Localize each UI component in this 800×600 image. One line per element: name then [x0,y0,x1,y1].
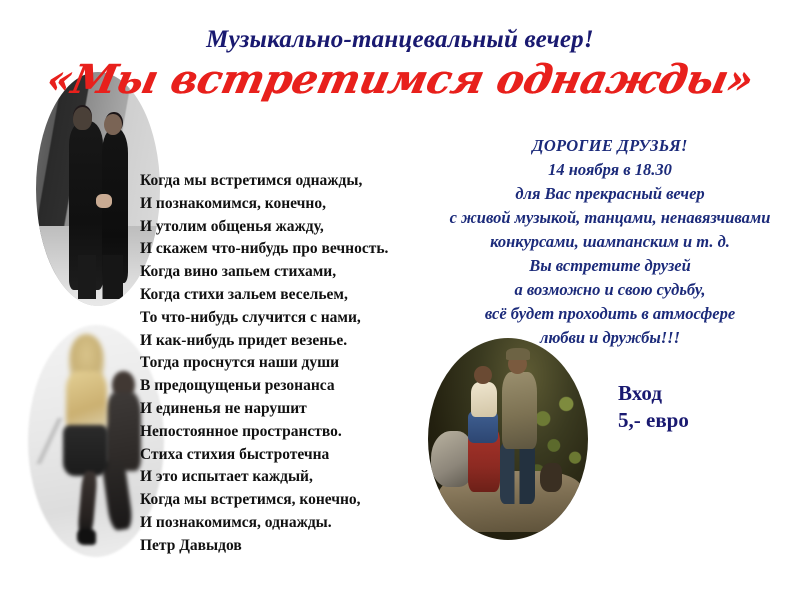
painting-woman-blouse [471,382,497,416]
poem-line: И как-нибудь придет везенье. [140,330,450,353]
announcement-text: ДОРОГИЕ ДРУЗЬЯ! 14 ноября в 18.30 для Ва… [420,134,800,350]
poem-line: Непостоянное пространство. [140,421,450,444]
painting-dog [540,463,562,491]
poem-line: В предощущеньи резонанса [140,375,450,398]
announcement-line: для Вас прекрасный вечер [420,182,800,206]
photo-hands [96,194,112,208]
announcement-line: Вы встретите друзей [420,254,800,278]
painting-rock [431,431,473,488]
poem-text: Когда мы встретимся однажды, И познакоми… [140,170,450,558]
poem-line: И познакомимся, однажды. [140,512,450,535]
entry-label: Вход [618,380,689,407]
photo-woman-skirt [63,425,108,476]
event-poster: Музыкально-танцевальный вечер! «Мы встре… [0,0,800,600]
poem-author: Петр Давыдов [140,535,450,558]
poem-line: Когда мы встретимся, конечно, [140,489,450,512]
photo-man-head [73,107,92,130]
poem-line: И познакомимся, конечно, [140,193,450,216]
announcement-date-time: 14 ноября в 18.30 [420,158,800,182]
announcement-line: конкурсами, шампанским и т. д. [420,230,800,254]
poem-line: Когда стихи зальем весельем, [140,284,450,307]
poem-line: То что-нибудь случится с нами, [140,307,450,330]
poem-line: И утолим общенья жажду, [140,216,450,239]
announcement-heading: ДОРОГИЕ ДРУЗЬЯ! [420,134,800,158]
photo-woman-shoe [77,529,96,545]
photo-woman-head [104,114,121,135]
poem-line: Когда мы встретимся однажды, [140,170,450,193]
entry-price-block: Вход 5,- евро [618,380,689,434]
page-subtitle-script: «Мы встретимся однажды» [0,56,800,103]
photo-legs [78,255,123,299]
announcement-line: всё будет проходить в атмосфере [420,302,800,326]
painting-man-hat [506,348,530,360]
announcement-line: а возможно и свою судьбу, [420,278,800,302]
painting-man-coat [502,372,537,449]
poem-line: И скажем что-нибудь про вечность. [140,238,450,261]
poem-line: Когда вино запьем стихами, [140,261,450,284]
poem-line: Тогда проснутся наши души [140,352,450,375]
painting-man-legs [500,443,535,504]
photo-man-body [106,392,141,471]
photo-woman-top [66,371,107,431]
poem-line: Стиха стихия быстротечна [140,444,450,467]
page-title: Музыкально-танцевальный вечер! [0,26,800,54]
poem-line: И единенья не нарушит [140,398,450,421]
poem-line: И это испытает каждый, [140,466,450,489]
photo-oval-painting [428,338,588,540]
entry-price: 5,- евро [618,407,689,434]
announcement-line: с живой музыкой, танцами, ненавязчивами [420,206,800,230]
